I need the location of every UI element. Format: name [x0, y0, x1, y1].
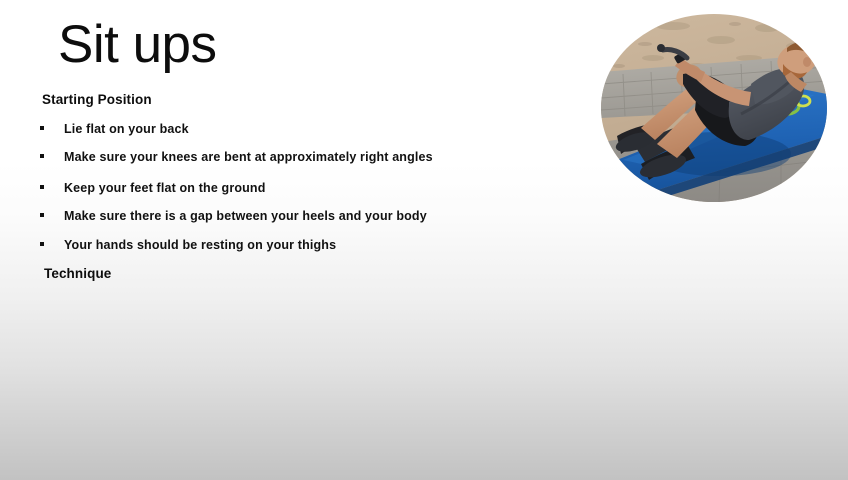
- list-item-label: Keep your feet flat on the ground: [64, 179, 265, 197]
- list-item-label: Make sure your knees are bent at approxi…: [64, 148, 433, 166]
- bullet-point-icon: [40, 242, 44, 246]
- section-heading-starting-position: Starting Position: [42, 92, 152, 107]
- page-title: Sit ups: [58, 16, 217, 73]
- slide-canvas: Sit ups Starting Position Lie flat on yo…: [0, 0, 848, 480]
- list-item-label: Your hands should be resting on your thi…: [64, 236, 336, 254]
- bullet-point-icon: [40, 154, 44, 158]
- section-heading-technique: Technique: [44, 266, 111, 281]
- bullet-point-icon: [40, 213, 44, 217]
- sit-up-photo: [601, 14, 827, 202]
- list-item-label: Lie flat on your back: [64, 120, 189, 138]
- bullet-point-icon: [40, 126, 44, 130]
- list-item-label: Make sure there is a gap between your he…: [64, 207, 427, 225]
- bullet-point-icon: [40, 185, 44, 189]
